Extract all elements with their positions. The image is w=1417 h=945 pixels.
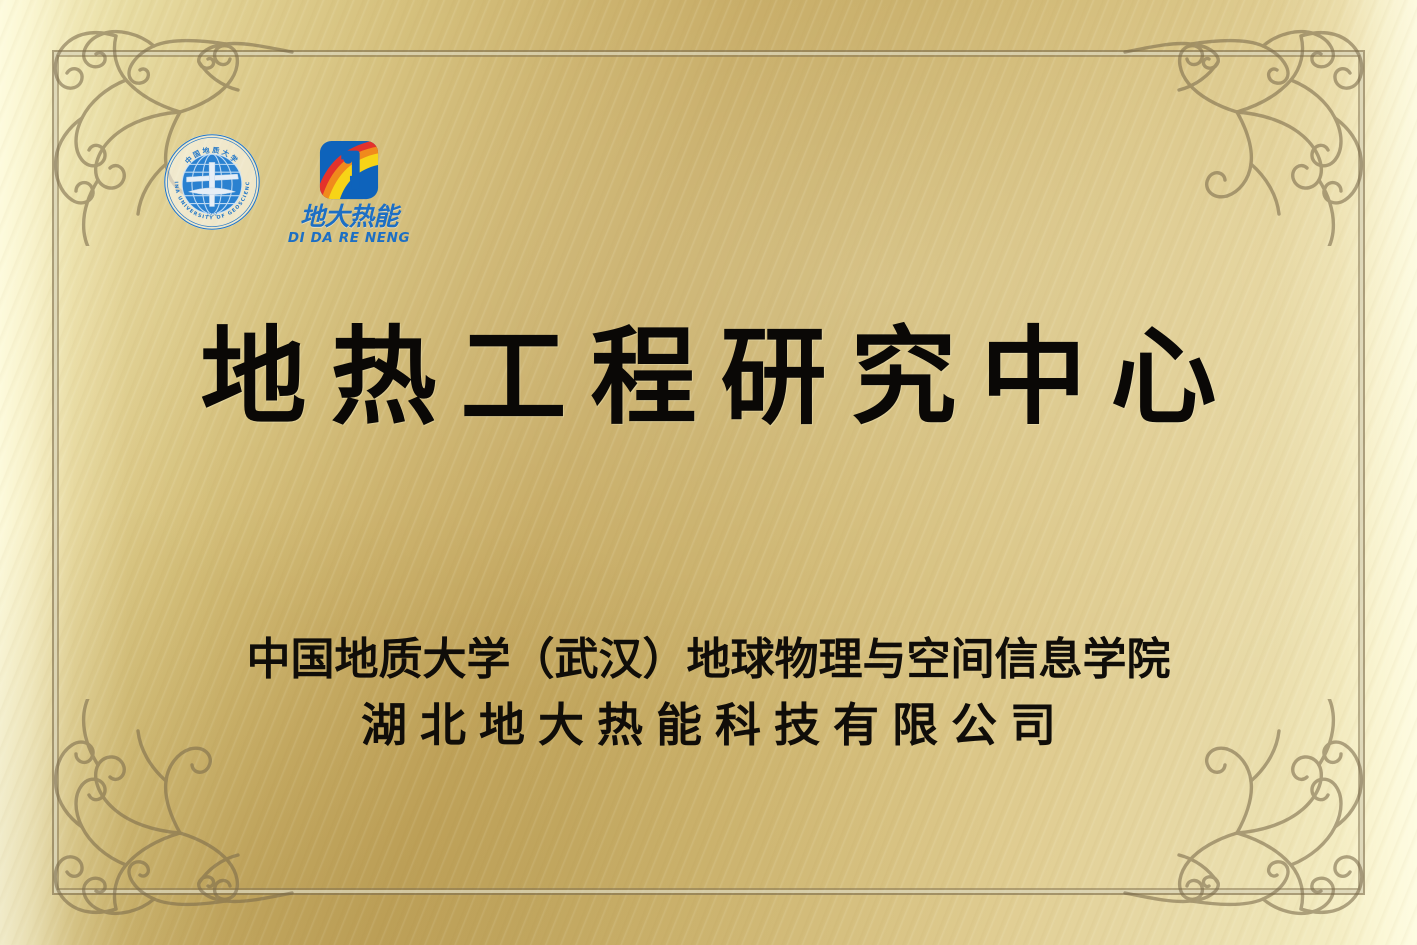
plaque-subtitle-block: 中国地质大学（武汉）地球物理与空间信息学院 湖北地大热能科技有限公司 (0, 632, 1417, 755)
didareneng-logo: 地大热能 DI DA RE NENG (283, 139, 415, 246)
plaque-subtitle-line-2: 湖北地大热能科技有限公司 (0, 697, 1417, 755)
plaque-subtitle-line-1: 中国地质大学（武汉）地球物理与空间信息学院 (0, 632, 1417, 687)
plaque: 中国地质大学 CHINA UNIVERSITY OF GEOSCIENCES 1… (0, 0, 1417, 945)
didareneng-mark-icon (318, 139, 380, 201)
logo-row: 中国地质大学 CHINA UNIVERSITY OF GEOSCIENCES 1… (163, 133, 415, 246)
didareneng-name-cn: 地大热能 (300, 204, 398, 229)
didareneng-name-en: DI DA RE NENG (288, 232, 410, 246)
plaque-title: 地热工程研究中心 (0, 318, 1417, 437)
china-university-of-geosciences-seal-icon: 中国地质大学 CHINA UNIVERSITY OF GEOSCIENCES 1… (163, 133, 261, 231)
seal-year: 1952 (207, 211, 218, 217)
